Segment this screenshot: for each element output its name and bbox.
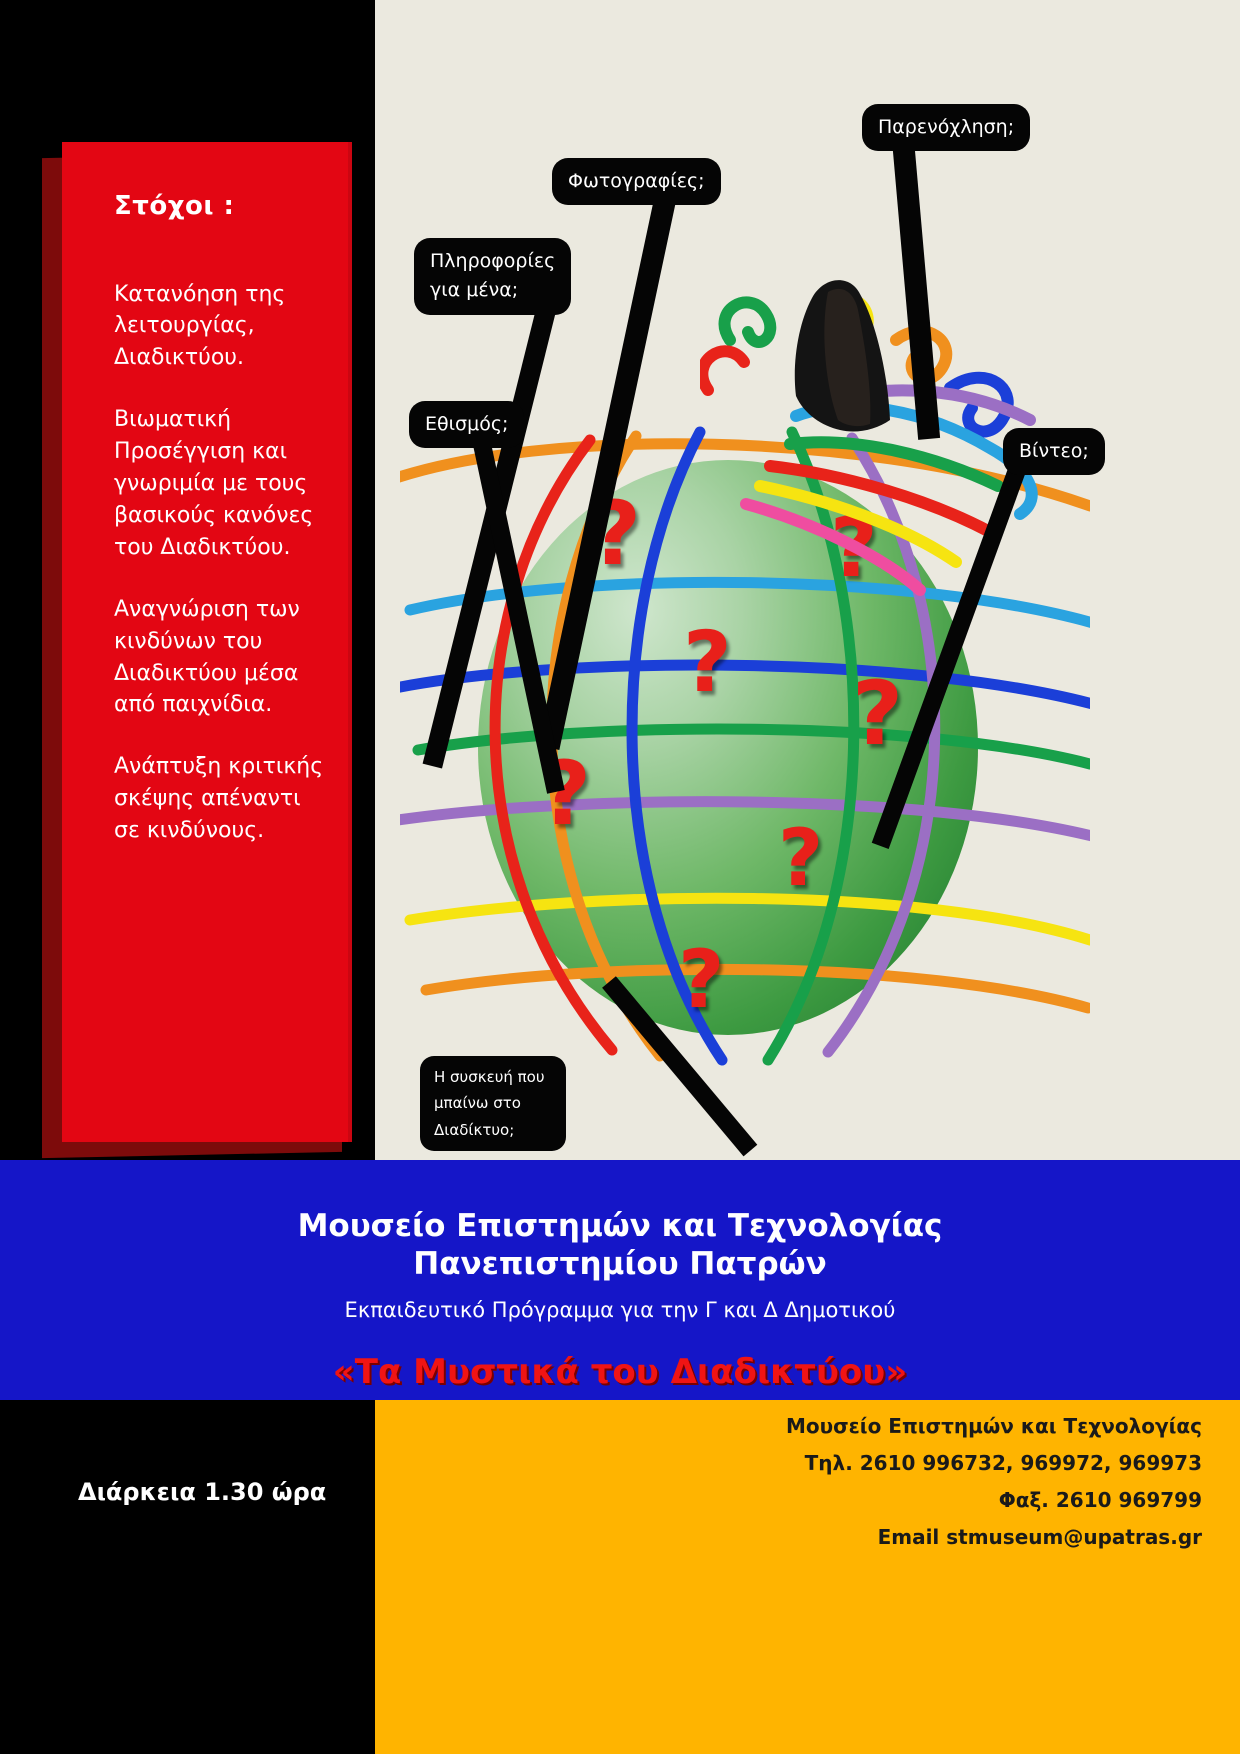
contact-email[interactable]: Email stmuseum@upatras.gr [786, 1519, 1202, 1556]
bubble-parenochlisi: Παρενόχληση; [862, 104, 1030, 151]
bubble-vinteo: Βίντεο; [1003, 428, 1105, 475]
globe-question-mark-6: ? [778, 820, 823, 898]
institution-name-line2: Πανεπιστημίου Πατρών [0, 1246, 1240, 1284]
contact-museum-name: Μουσείο Επιστημών και Τεχνολογίας [786, 1408, 1202, 1445]
globe-question-mark-2: ? [683, 620, 732, 704]
institution-band: Μουσείο Επιστημών και Τεχνολογίας Πανεπι… [0, 1160, 1240, 1400]
program-subtitle: Εκπαιδευτικό Πρόγραμμα για την Γ και Δ Δ… [0, 1298, 1240, 1322]
bubble-syskevi: Η συσκευή που μπαίνω στο Διαδίκτυο; [420, 1056, 566, 1151]
poster-root: Στόχοι : Κατανόηση της λειτουργίας, Διαδ… [0, 0, 1240, 1754]
duration-panel [0, 1400, 375, 1754]
contact-details: Μουσείο Επιστημών και Τεχνολογίας Τηλ. 2… [786, 1408, 1202, 1556]
bubble-plirofories: Πληροφορίες για μένα; [414, 238, 571, 315]
program-title: «Τα Μυστικά του Διαδικτύου» [0, 1352, 1240, 1392]
institution-name-line1: Μουσείο Επιστημών και Τεχνολογίας [0, 1160, 1240, 1246]
objective-item-4: Ανάπτυξη κριτικής σκέψης απέναντι σε κιν… [114, 751, 324, 847]
contact-fax: Φαξ. 2610 969799 [786, 1482, 1202, 1519]
contact-phone: Τηλ. 2610 996732, 969972, 969973 [786, 1445, 1202, 1482]
globe-question-mark-7: ? [678, 940, 724, 1020]
bubble-ethismos: Εθισμός; [409, 401, 524, 448]
objective-item-2: Βιωματική Προσέγγιση και γνωριμία με του… [114, 404, 324, 563]
bubble-fotografies: Φωτογραφίες; [552, 158, 721, 205]
objectives-box: Στόχοι : Κατανόηση της λειτουργίας, Διαδ… [62, 142, 352, 1142]
globe-question-mark-4: ? [852, 670, 903, 758]
objectives-heading: Στόχοι : [114, 192, 324, 221]
objective-item-3: Αναγνώριση των κινδύνων του Διαδικτύου μ… [114, 594, 324, 722]
duration-text: Διάρκεια 1.30 ώρα [78, 1478, 326, 1506]
objective-item-1: Κατανόηση της λειτουργίας, Διαδικτύου. [114, 279, 324, 375]
